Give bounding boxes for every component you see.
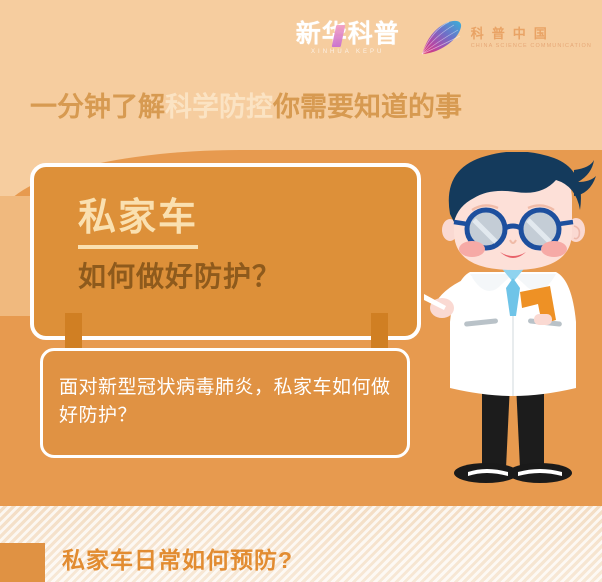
main-question-board: 私家车 如何做好防护？ [30,163,421,340]
right-cheek [541,241,567,257]
headline-part-3: 你需要知道的事 [273,92,462,122]
scientist-character-illustration [424,152,602,506]
footer-section-title: 私家车日常如何预防? [62,547,293,575]
kepu-zhongguo-logo-text: 科普中国 CHINA SCIENCE COMMUNICATION [471,27,592,49]
kepu-zhongguo-cn: 科普中国 [471,27,592,41]
xinhua-kepu-logo-subtitle: XINHUA KEPU [311,49,384,55]
description-board-text: 面对新型冠状病毒肺炎，私家车如何做好防护？ [59,374,399,429]
headline-part-2: 科学防控 [165,92,273,122]
footer-accent-block [0,543,45,582]
xinhua-kepu-logo-text: 新华科普 [296,22,400,47]
main-board-subtitle: 如何做好防护？ [78,263,281,291]
right-temple [559,222,573,224]
header-logos: 新华科普 XINHUA KEPU [296,18,592,58]
left-temple [454,222,467,224]
kepu-zhongguo-en: CHINA SCIENCE COMMUNICATION [471,43,592,49]
right-leg [516,384,544,468]
headline-part-1: 一分钟了解 [30,92,165,122]
left-cheek [459,241,485,257]
description-board: 面对新型冠状病毒肺炎，私家车如何做好防护？ [40,348,410,458]
hair-tuft [574,160,596,196]
page-headline: 一分钟了解科学防控你需要知道的事 [30,94,462,121]
kepu-zhongguo-logo: 科普中国 CHINA SCIENCE COMMUNICATION [416,18,592,58]
xinhua-kepu-logo: 新华科普 XINHUA KEPU [296,22,400,55]
glasses-bridge [505,226,521,228]
right-hand [534,314,552,325]
fan-wing-icon [416,18,464,58]
main-board-title: 私家车 [78,199,198,249]
infographic-poster: 新华科普 XINHUA KEPU [0,0,602,582]
left-leg [482,384,510,468]
